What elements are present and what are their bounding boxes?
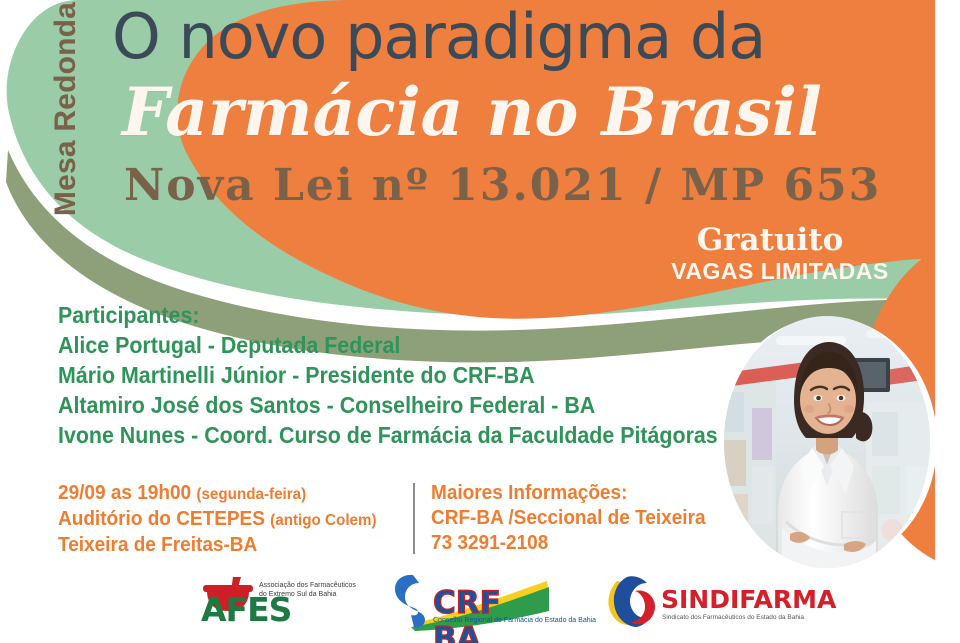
event-weekday: (segunda-feira) [196,486,306,503]
afes-tagline-line1: Associação dos Farmacêuticos [259,581,356,590]
participant-item: Ivone Nunes - Coord. Curso de Farmácia d… [58,420,672,450]
info-divider [413,483,415,554]
participant-item: Alice Portugal - Deputada Federal [58,330,672,360]
event-info-column: 29/09 as 19h00 (segunda-feira) Auditório… [58,481,413,558]
event-venue-line: Auditório do CETEPES (antigo Colem) [58,507,395,533]
logo-crf-ba: CRF BA Conselho Regional de Farmácia do … [389,571,553,633]
contact-title: Maiores Informações: [431,481,761,506]
event-venue-note: (antigo Colem) [270,512,376,529]
info-section: 29/09 as 19h00 (segunda-feira) Auditório… [58,481,778,558]
limited-seats-label: VAGAS LIMITADAS [660,258,900,285]
sindifarma-tagline: Sindicato dos Farmacêuticos do Estado da… [662,614,804,621]
event-datetime: 29/09 as 19h00 [58,482,191,504]
headline-line-1: O novo paradigma da [112,4,765,69]
sponsor-logos: Associação dos Farmacêuticos do Extremo … [0,565,960,639]
crf-wordmark: CRF BA [433,585,553,643]
event-datetime-line: 29/09 as 19h00 (segunda-feira) [58,481,395,507]
contact-organization: CRF-BA /Seccional de Teixeira [431,506,761,531]
logo-afes: Associação dos Farmacêuticos do Extremo … [185,571,343,633]
logo-sindifarma: SINDIFARMA Sindicato dos Farmacêuticos d… [599,571,775,633]
headline-line-2: Farmácia no Brasil [122,78,822,147]
participants-title: Participantes: [58,300,672,330]
participants-section: Participantes: Alice Portugal - Deputada… [58,300,718,450]
sindifarma-wordmark: SINDIFARMA [661,585,836,614]
participant-item: Altamiro José dos Santos - Conselheiro F… [58,390,672,420]
participant-item: Mário Martinelli Júnior - Presidente do … [58,360,672,390]
event-city: Teixeira de Freitas-BA [58,533,395,558]
kicker-mesa-redonda: Mesa Redonda [49,0,83,227]
contact-info-column: Maiores Informações: CRF-BA /Seccional d… [431,481,778,558]
event-venue: Auditório do CETEPES [58,508,265,530]
afes-wordmark: AFES [201,590,291,629]
free-label: Gratuito [650,222,890,258]
headline-line-3: Nova Lei nº 13.021 / MP 653 [124,163,881,209]
bahia-map-icon [601,575,663,629]
event-poster: Mesa Redonda O novo paradigma da Farmáci… [0,0,960,643]
crf-tagline: Conselho Regional de Farmácia do Estado … [433,617,596,624]
contact-phone: 73 3291-2108 [431,531,761,556]
